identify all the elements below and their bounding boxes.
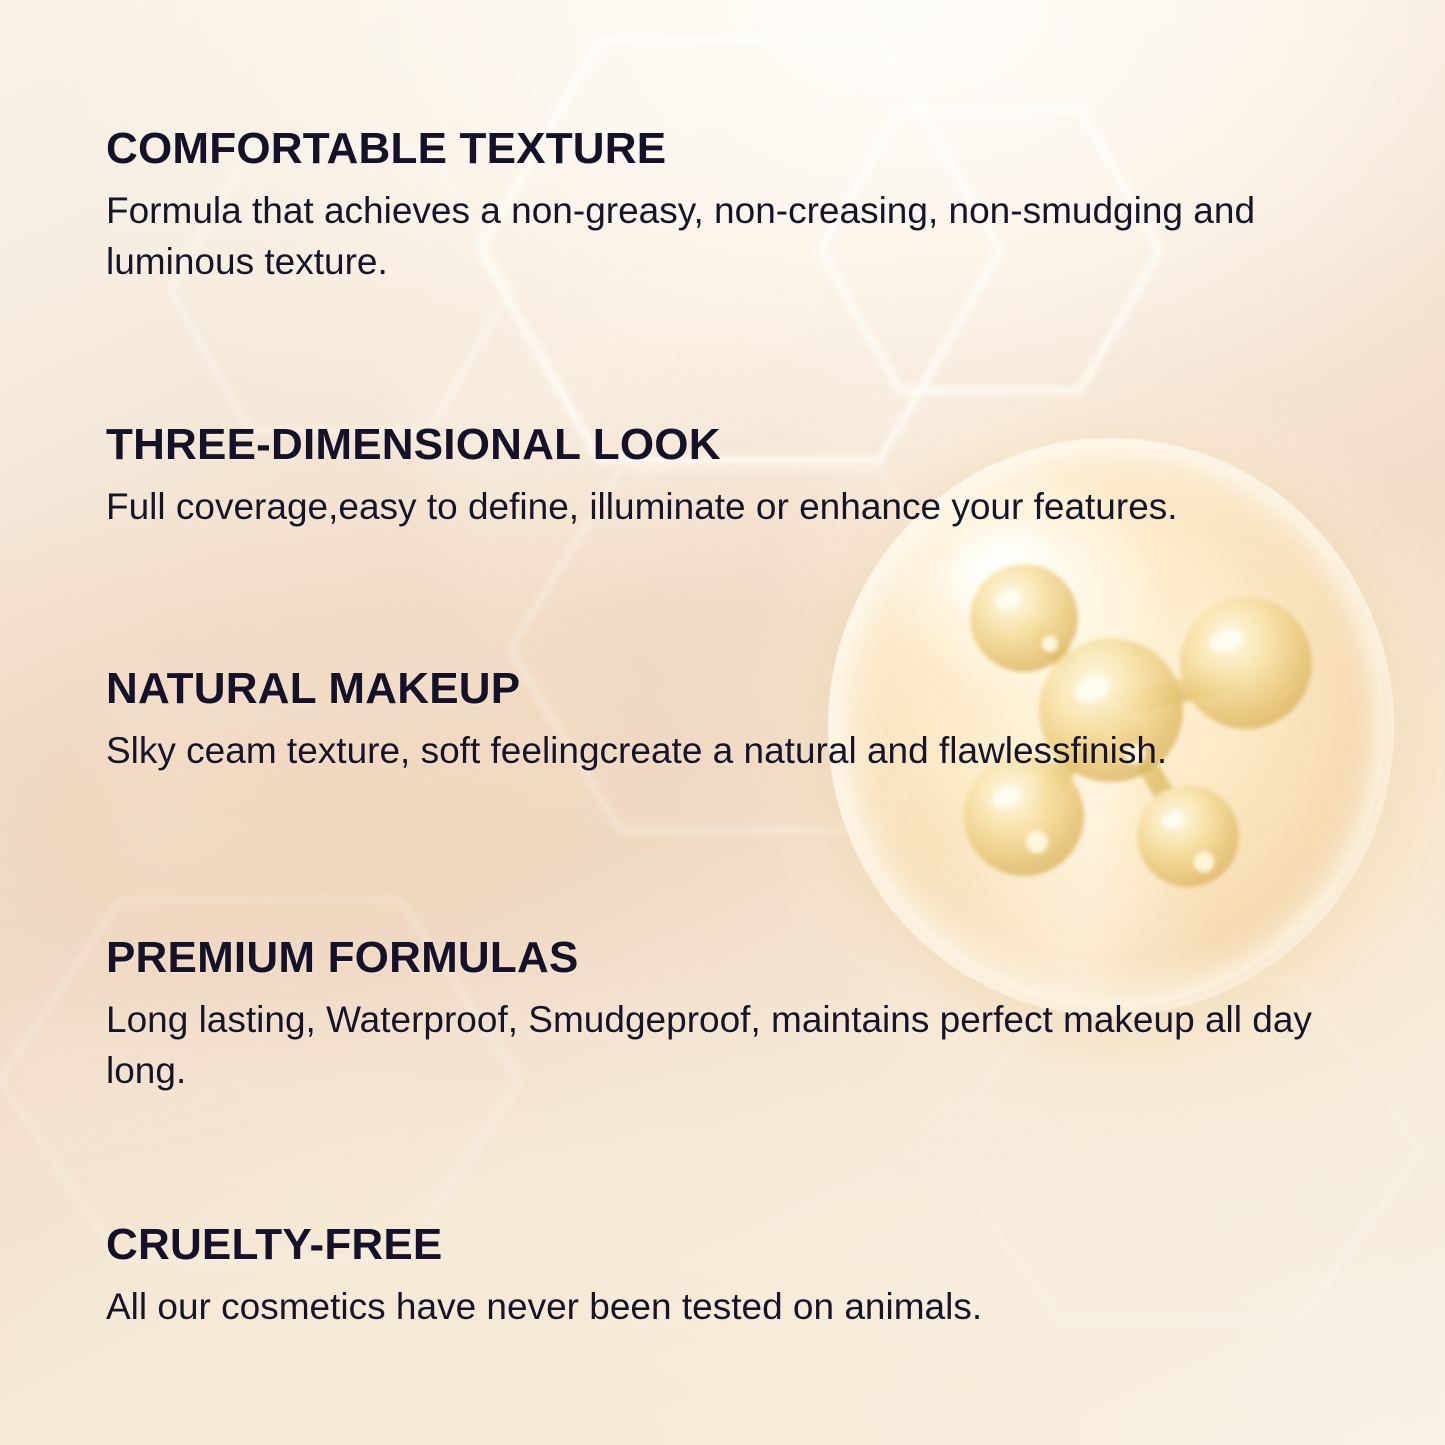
feature-item-three-dimensional-look: THREE-DIMENSIONAL LOOK Full coverage,eas… (106, 422, 1386, 533)
feature-title: THREE-DIMENSIONAL LOOK (106, 422, 1386, 468)
feature-item-cruelty-free: CRUELTY-FREE All our cosmetics have neve… (106, 1222, 1386, 1333)
feature-poster: COMFORTABLE TEXTURE Formula that achieve… (0, 0, 1445, 1445)
feature-description: All our cosmetics have never been tested… (106, 1282, 1361, 1332)
feature-item-natural-makeup: NATURAL MAKEUP Slky ceam texture, soft f… (106, 666, 1386, 777)
feature-title: COMFORTABLE TEXTURE (106, 126, 1386, 172)
feature-title: PREMIUM FORMULAS (106, 935, 1386, 981)
feature-description: Full coverage,easy to define, illuminate… (106, 482, 1361, 532)
feature-list: COMFORTABLE TEXTURE Formula that achieve… (0, 0, 1445, 1445)
feature-title: NATURAL MAKEUP (106, 666, 1386, 712)
feature-description: Formula that achieves a non-greasy, non-… (106, 186, 1361, 287)
feature-item-comfortable-texture: COMFORTABLE TEXTURE Formula that achieve… (106, 126, 1386, 287)
feature-item-premium-formulas: PREMIUM FORMULAS Long lasting, Waterproo… (106, 935, 1386, 1096)
feature-description: Slky ceam texture, soft feelingcreate a … (106, 726, 1361, 776)
feature-description: Long lasting, Waterproof, Smudgeproof, m… (106, 995, 1361, 1096)
feature-title: CRUELTY-FREE (106, 1222, 1386, 1268)
